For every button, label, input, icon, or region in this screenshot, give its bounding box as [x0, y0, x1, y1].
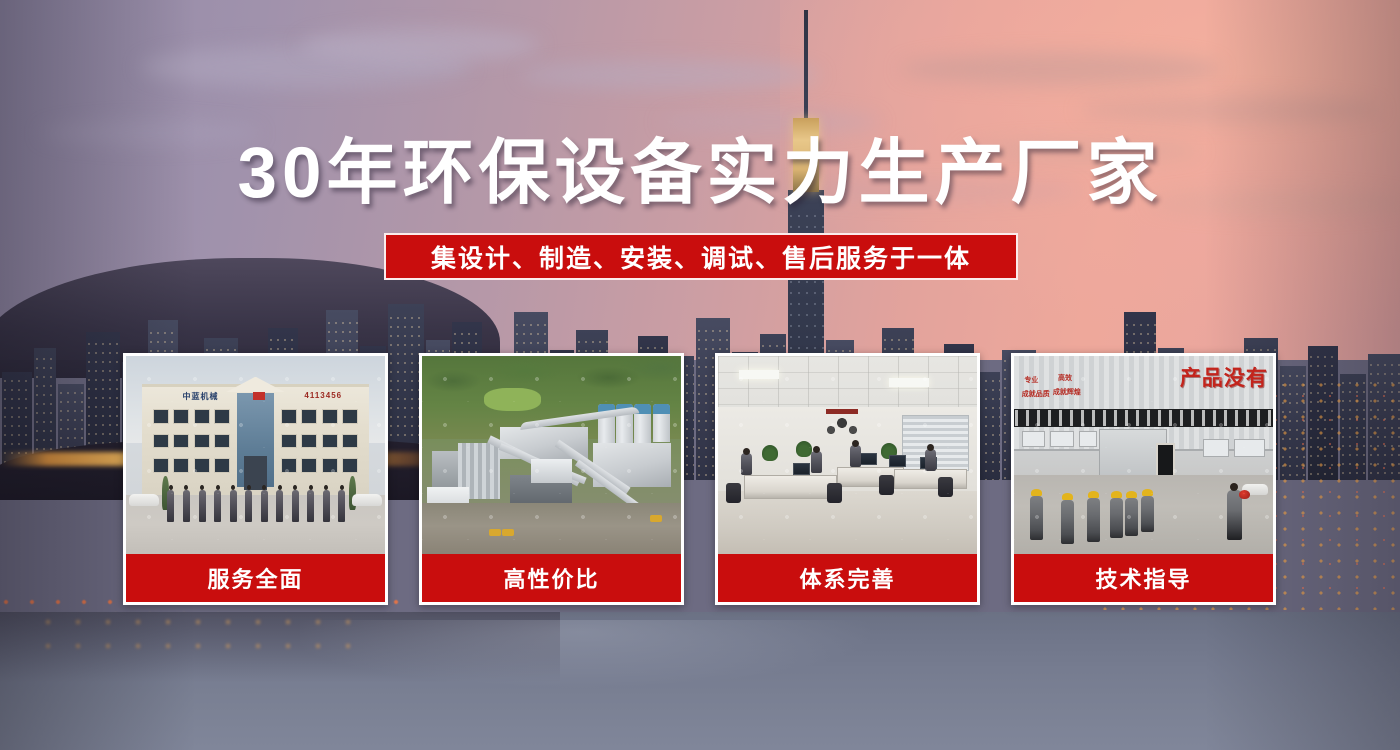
card-1-photo: 中蓝机械 4113456: [126, 356, 385, 554]
warehouse-wall-text: 产品没有: [1180, 362, 1268, 392]
card-1-label: 服务全面: [126, 554, 385, 602]
card-2-label: 高性价比: [422, 554, 681, 602]
company-phone-text: 4113456: [304, 391, 342, 400]
water-reflection: [300, 620, 1000, 740]
office-building: 中蓝机械 4113456: [142, 384, 370, 499]
water-light-reflection: [40, 614, 370, 660]
card-4-label: 技术指导: [1014, 554, 1273, 602]
feature-card-3[interactable]: 体系完善: [715, 353, 980, 605]
red-helmet-icon: [1239, 490, 1250, 499]
warehouse-slogan-4: 成就辉煌: [1053, 388, 1081, 397]
warehouse-slogan-2: 成就品质: [1022, 390, 1050, 399]
company-sign-text: 中蓝机械: [183, 391, 219, 402]
card-2-photo: [422, 356, 681, 554]
card-4-photo: 产品没有 专业 成就品质 高效 成就辉煌: [1014, 356, 1273, 554]
tower-spire: [804, 10, 808, 122]
hero-banner: 30年环保设备实力生产厂家 集设计、制造、安装、调试、售后服务于一体 中蓝机械 …: [0, 0, 1400, 750]
card-3-photo: [718, 356, 977, 554]
warehouse-slogan-3: 高效: [1058, 374, 1072, 383]
subtitle-banner: 集设计、制造、安装、调试、售后服务于一体: [384, 233, 1018, 280]
feature-card-2[interactable]: 高性价比: [419, 353, 684, 605]
feature-card-1[interactable]: 中蓝机械 4113456: [123, 353, 388, 605]
subtitle-text: 集设计、制造、安装、调试、售后服务于一体: [431, 239, 971, 275]
warehouse-slogan-1: 专业: [1024, 376, 1038, 385]
page-title: 30年环保设备实力生产厂家: [0, 130, 1400, 218]
wall-decal: [822, 415, 862, 441]
feature-card-4[interactable]: 产品没有 专业 成就品质 高效 成就辉煌: [1011, 353, 1276, 605]
card-3-label: 体系完善: [718, 554, 977, 602]
feature-card-row: 中蓝机械 4113456: [123, 353, 1276, 605]
